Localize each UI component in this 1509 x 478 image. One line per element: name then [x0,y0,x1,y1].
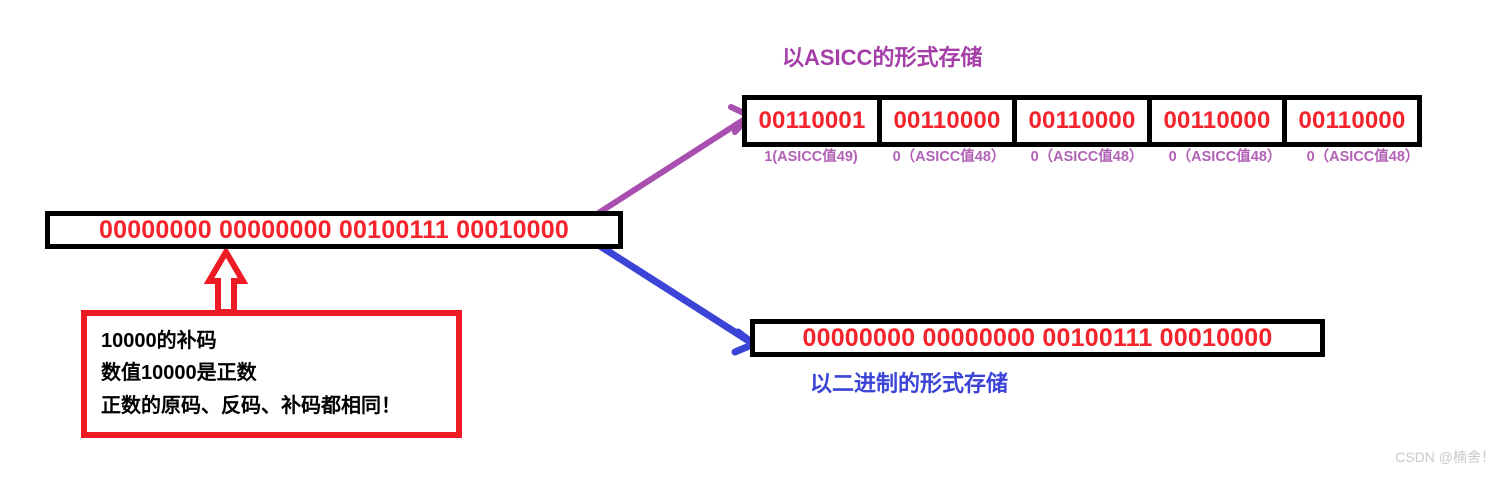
ascii-cell: 00110000 [1152,100,1287,142]
ascii-cell-binary: 00110000 [1163,109,1270,133]
ascii-value-label: 0（ASICC值48） [1294,150,1432,172]
ascii-cell: 00110000 [882,100,1017,142]
ascii-cell-binary: 00110001 [758,109,865,133]
source-binary-box: 00000000 00000000 00100111 00010000 [45,211,623,249]
ascii-cell: 00110000 [1287,100,1417,142]
annotation-note-box: 10000的补码 数值10000是正数 正数的原码、反码、补码都相同！ [81,310,462,438]
ascii-value-label: 0（ASICC值48） [880,150,1018,172]
binary-storage-value: 00000000 00000000 00100111 00010000 [802,326,1272,351]
note-line: 10000的补码 [101,325,456,357]
blue-arrow-to-binary [600,246,754,352]
ascii-value-label: 0（ASICC值48） [1156,150,1294,172]
ascii-cell: 00110000 [1017,100,1152,142]
ascii-branch-title: 以ASICC的形式存储 [782,45,982,71]
ascii-value-labels: 1(ASICC值49) 0（ASICC值48） 0（ASICC值48） 0（AS… [742,150,1432,172]
ascii-cell-binary: 00110000 [893,109,1000,133]
binary-branch-caption: 以二进制的形式存储 [810,371,1008,397]
source-binary-value: 00000000 00000000 00100111 00010000 [99,218,569,243]
red-up-arrow [209,252,243,312]
ascii-value-label: 0（ASICC值48） [1018,150,1156,172]
ascii-cell: 00110001 [747,100,882,142]
purple-arrow-to-ascii [597,107,750,214]
ascii-cells-row: 00110001 00110000 00110000 00110000 0011… [742,95,1422,147]
ascii-value-label: 1(ASICC值49) [742,150,880,172]
ascii-cell-binary: 00110000 [1028,109,1135,133]
note-line: 正数的原码、反码、补码都相同！ [101,390,456,422]
watermark: CSDN @楠舍！ [1395,447,1495,467]
diagram-canvas: 以ASICC的形式存储 00110001 00110000 00110000 0… [0,0,1509,478]
ascii-cell-binary: 00110000 [1298,109,1405,133]
binary-storage-box: 00000000 00000000 00100111 00010000 [750,319,1325,357]
note-line: 数值10000是正数 [101,357,456,389]
